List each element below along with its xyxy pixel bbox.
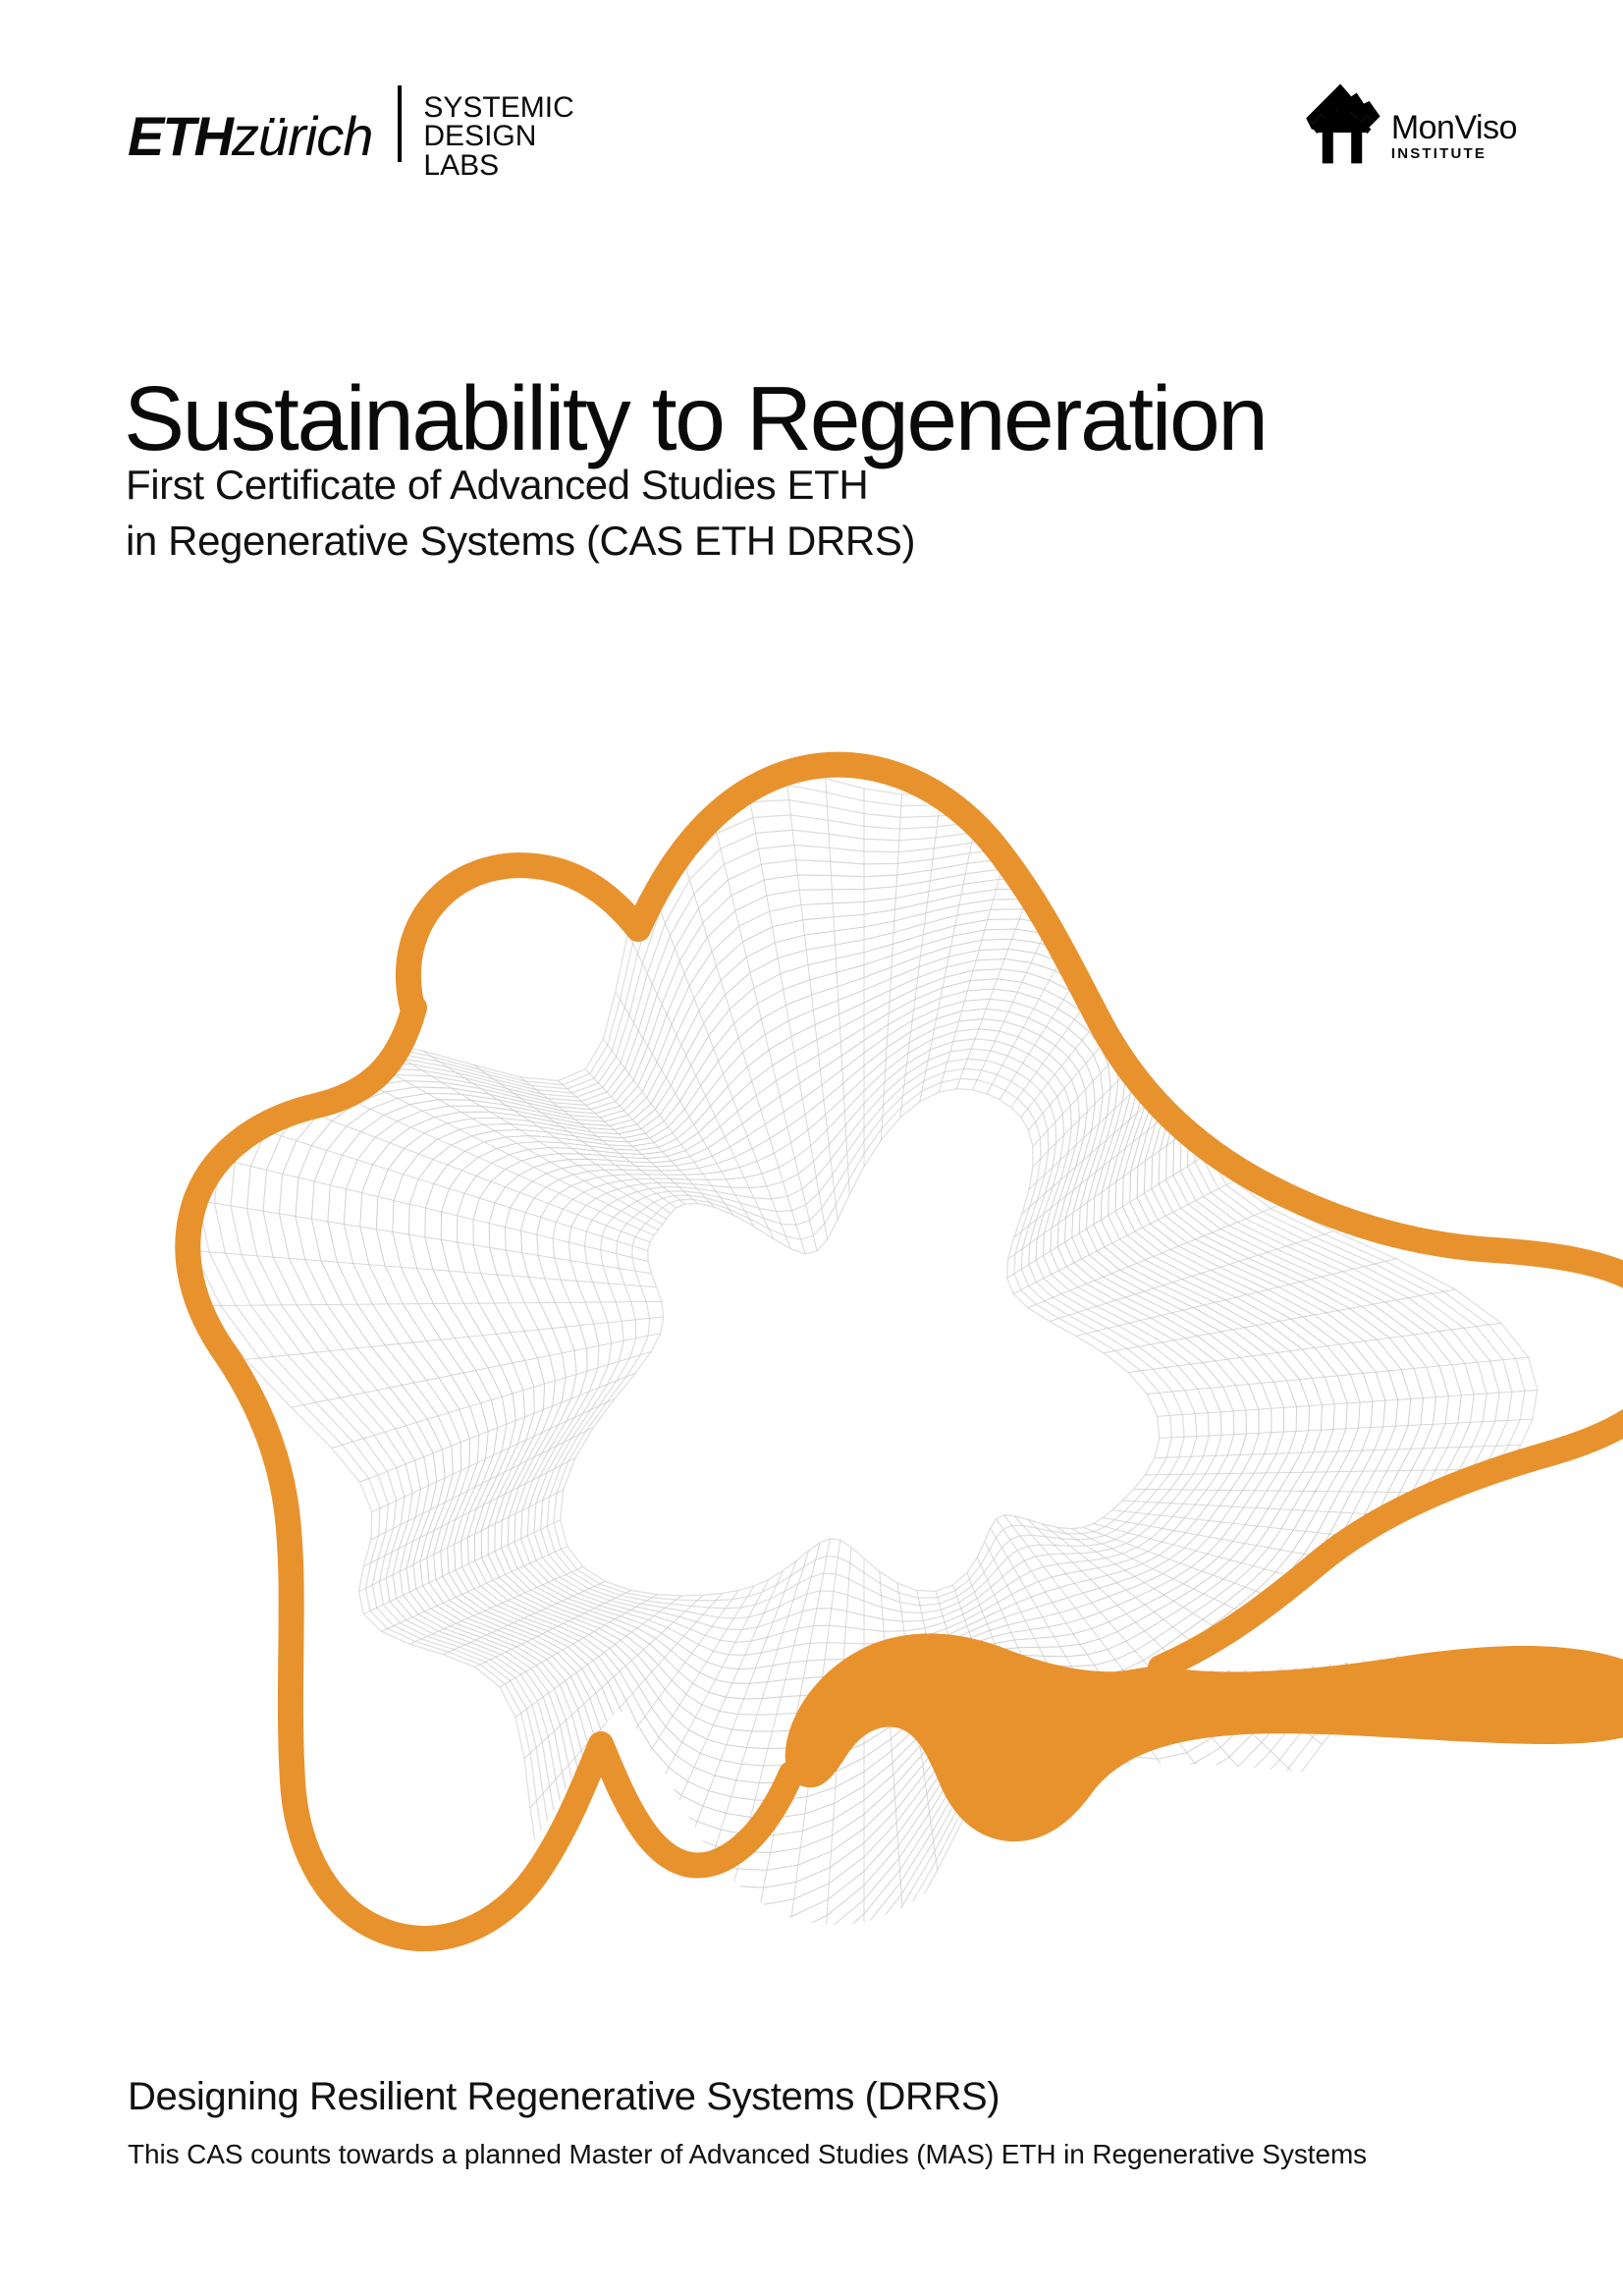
sdl-line-3: LABS [423, 151, 573, 180]
page-title: Sustainability to Regeneration [124, 373, 1267, 465]
mesh-spoke [1155, 1445, 1521, 1457]
mesh-spoke [690, 1543, 821, 2057]
cover-page: ETHzürich SYSTEMIC DESIGN LABS [0, 0, 1623, 2296]
mesh-ring [541, 1059, 1197, 1618]
mesh-spoke [178, 1249, 657, 1286]
monviso-institute-logo: MonViso INSTITUTE [1297, 77, 1517, 167]
orange-wave-slab [785, 1633, 1623, 1841]
mesh-spoke [1011, 844, 1202, 1107]
mesh-spoke [585, 1069, 714, 1207]
mesh-spoke [423, 1051, 671, 1213]
zurich-text: zürich [232, 105, 372, 167]
monviso-mountain-house-icon [1297, 77, 1387, 167]
mesh-spoke [1103, 1518, 1458, 1582]
mesh-spoke [363, 1520, 560, 1614]
mesh-spoke [881, 794, 901, 1140]
mesh-ring [561, 1089, 1160, 1596]
mesh-spoke [205, 1302, 661, 1306]
eth-zurich-wordmark: ETHzürich [128, 109, 372, 164]
mesh-lines [166, 770, 1538, 2062]
mesh-spoke [672, 822, 805, 1254]
mesh-ring [473, 979, 1297, 1731]
mesh-spoke [1112, 1510, 1475, 1551]
mesh-spoke [166, 1195, 651, 1274]
program-title: Designing Resilient Regenerative Systems… [128, 2074, 1367, 2119]
mesh-spoke [745, 771, 828, 1239]
program-note: This CAS counts towards a planned Master… [128, 2139, 1367, 2170]
mesh-spoke [826, 779, 850, 1194]
mesh-ring [554, 1079, 1172, 1601]
eth-zurich-logo: ETHzürich SYSTEMIC DESIGN LABS [128, 93, 574, 180]
sdl-line-1: SYSTEMIC [423, 93, 573, 122]
header: ETHzürich SYSTEMIC DESIGN LABS [0, 0, 1623, 206]
mesh-spoke [603, 1039, 733, 1215]
footer: Designing Resilient Regenerative Systems… [128, 2074, 1367, 2170]
mesh-spoke [1147, 1357, 1529, 1394]
mesh-ring [311, 879, 1423, 1905]
sdl-line-2: DESIGN [423, 122, 573, 150]
mesh-spoke [245, 1317, 663, 1359]
monviso-title: MonViso [1391, 111, 1517, 144]
mesh-ring [263, 848, 1461, 1957]
orange-outline [408, 765, 1623, 1667]
logo-divider [398, 85, 402, 162]
eth-text: ETH [128, 105, 232, 167]
mesh-spoke [1158, 1391, 1538, 1417]
mesh-spoke [820, 1547, 851, 2027]
monviso-wordmark: MonViso INSTITUTE [1391, 111, 1517, 167]
systemic-design-labs-wordmark: SYSTEMIC DESIGN LABS [423, 93, 573, 180]
wireframe-torus-illustration [0, 462, 1623, 2052]
mesh-spoke [900, 794, 942, 1118]
mesh-spoke [500, 1595, 657, 1687]
mesh-ring [198, 800, 1512, 2028]
monviso-subtitle: INSTITUTE [1391, 145, 1517, 163]
orange-outline-lower [188, 1008, 791, 1939]
